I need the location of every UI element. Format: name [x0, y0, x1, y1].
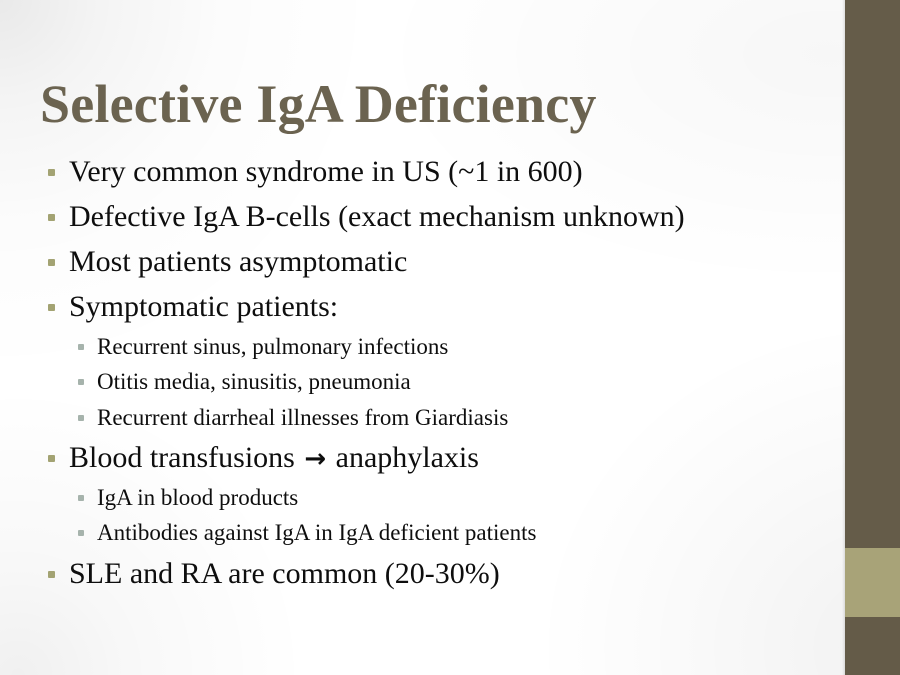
bullet-item-level-1: Most patients asymptomatic: [40, 242, 830, 281]
sidebar-band-accent: [845, 548, 900, 617]
bullet-item-label: Defective IgA B-cells (exact mechanism u…: [69, 197, 685, 236]
bullet-dot-icon: [78, 495, 84, 501]
bullet-item-label: Otitis media, sinusitis, pneumonia: [97, 367, 411, 397]
sidebar-band-top: [845, 0, 900, 548]
bullet-item-label: IgA in blood products: [97, 483, 298, 513]
bullet-item-level-1: SLE and RA are common (20-30%): [40, 554, 830, 593]
bullet-dot-icon: [78, 344, 84, 350]
bullet-item-level-2: IgA in blood products: [40, 483, 830, 513]
bullet-dot-icon: [48, 571, 55, 578]
bullet-dot-icon: [78, 415, 84, 421]
bullet-item-level-1: Symptomatic patients:: [40, 287, 830, 326]
bullet-dot-icon: [78, 530, 84, 536]
bullet-dot-icon: [48, 169, 55, 176]
bullet-dot-icon: [48, 304, 55, 311]
bullet-item-level-2: Recurrent diarrheal illnesses from Giard…: [40, 403, 830, 433]
bullet-dot-icon: [48, 259, 55, 266]
bullet-item-level-1: Blood transfusions → anaphylaxis: [40, 438, 830, 477]
bullet-item-label: Symptomatic patients:: [69, 287, 338, 326]
bullet-dot-icon: [78, 379, 84, 385]
bullet-item-label: Most patients asymptomatic: [69, 242, 407, 281]
bullet-item-level-2: Otitis media, sinusitis, pneumonia: [40, 367, 830, 397]
bullet-item-label: Blood transfusions → anaphylaxis: [69, 438, 479, 477]
bullet-dot-icon: [48, 455, 55, 462]
bullet-item-level-2: Antibodies against IgA in IgA deficient …: [40, 518, 830, 548]
sidebar-edge-shadow: [842, 0, 845, 675]
bullet-item-label: Very common syndrome in US (~1 in 600): [69, 152, 583, 191]
bullet-item-level-2: Recurrent sinus, pulmonary infections: [40, 332, 830, 362]
slide-title: Selective IgA Deficiency: [40, 76, 597, 133]
bullet-item-label: Antibodies against IgA in IgA deficient …: [97, 518, 536, 548]
presentation-slide: Selective IgA Deficiency Very common syn…: [0, 0, 900, 675]
bullet-item-label: SLE and RA are common (20-30%): [69, 554, 500, 593]
bullet-dot-icon: [48, 214, 55, 221]
bullet-item-level-1: Defective IgA B-cells (exact mechanism u…: [40, 197, 830, 236]
bullet-item-level-1: Very common syndrome in US (~1 in 600): [40, 152, 830, 191]
sidebar-band-bottom: [845, 617, 900, 675]
slide-decorative-sidebar: [845, 0, 900, 675]
right-arrow-icon: →: [302, 444, 328, 474]
bullet-item-label: Recurrent diarrheal illnesses from Giard…: [97, 403, 508, 433]
bullet-item-label: Recurrent sinus, pulmonary infections: [97, 332, 448, 362]
slide-body-bullet-list: Very common syndrome in US (~1 in 600)De…: [40, 152, 830, 599]
